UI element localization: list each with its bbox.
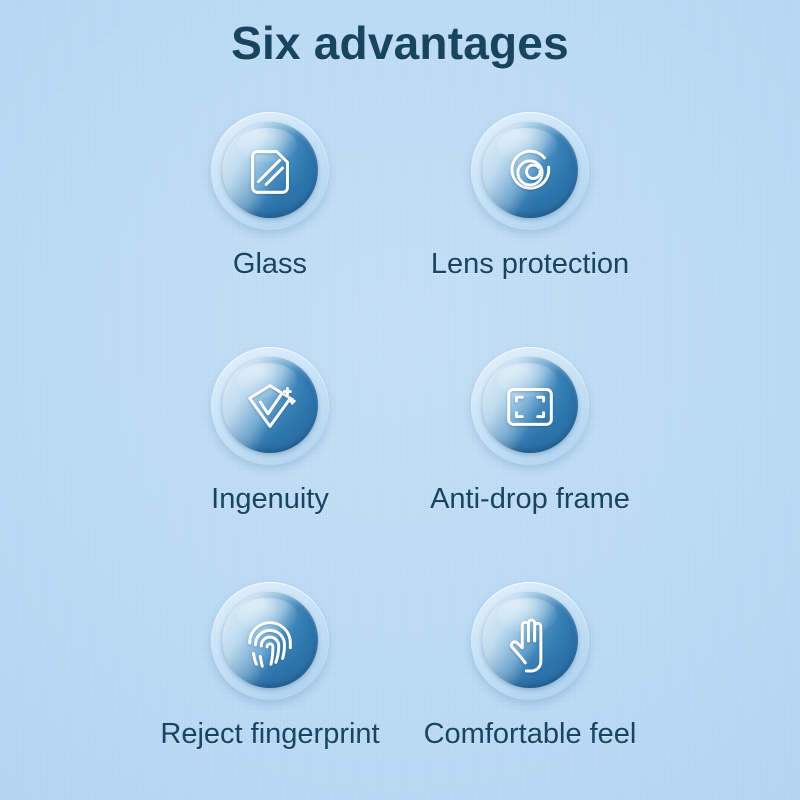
camera-lens-icon <box>499 140 561 202</box>
feature-label: Comfortable feel <box>424 718 637 751</box>
feature-medallion <box>211 347 329 465</box>
open-hand-icon <box>499 610 561 672</box>
corner-frame-icon <box>499 375 561 437</box>
feature-label: Lens protection <box>431 248 629 281</box>
features-grid: Glass Lens protection <box>0 112 800 751</box>
feature-medallion <box>471 112 589 230</box>
feature-item-reject-fingerprint[interactable]: Reject fingerprint <box>140 582 400 751</box>
feature-label: Anti-drop frame <box>430 483 630 516</box>
fingerprint-icon <box>239 610 301 672</box>
feature-label: Glass <box>233 248 307 281</box>
feature-item-comfortable-feel[interactable]: Comfortable feel <box>400 582 660 751</box>
feature-item-ingenuity[interactable]: Ingenuity <box>140 347 400 516</box>
feature-medallion <box>471 582 589 700</box>
feature-item-glass[interactable]: Glass <box>140 112 400 281</box>
feature-medallion <box>471 347 589 465</box>
feature-row-3: Reject fingerprint <box>0 582 800 751</box>
feature-row-1: Glass Lens protection <box>0 112 800 281</box>
feature-item-anti-drop-frame[interactable]: Anti-drop frame <box>400 347 660 516</box>
feature-row-2: Ingenuity Ant <box>0 347 800 516</box>
six-advantages-infographic: Six advantages Glass <box>0 0 800 800</box>
diamond-check-icon <box>239 375 301 437</box>
feature-medallion <box>211 112 329 230</box>
glass-screen-icon <box>239 140 301 202</box>
feature-medallion <box>211 582 329 700</box>
page-title: Six advantages <box>0 16 800 70</box>
feature-item-lens-protection[interactable]: Lens protection <box>400 112 660 281</box>
feature-label: Reject fingerprint <box>160 718 379 751</box>
feature-label: Ingenuity <box>211 483 329 516</box>
